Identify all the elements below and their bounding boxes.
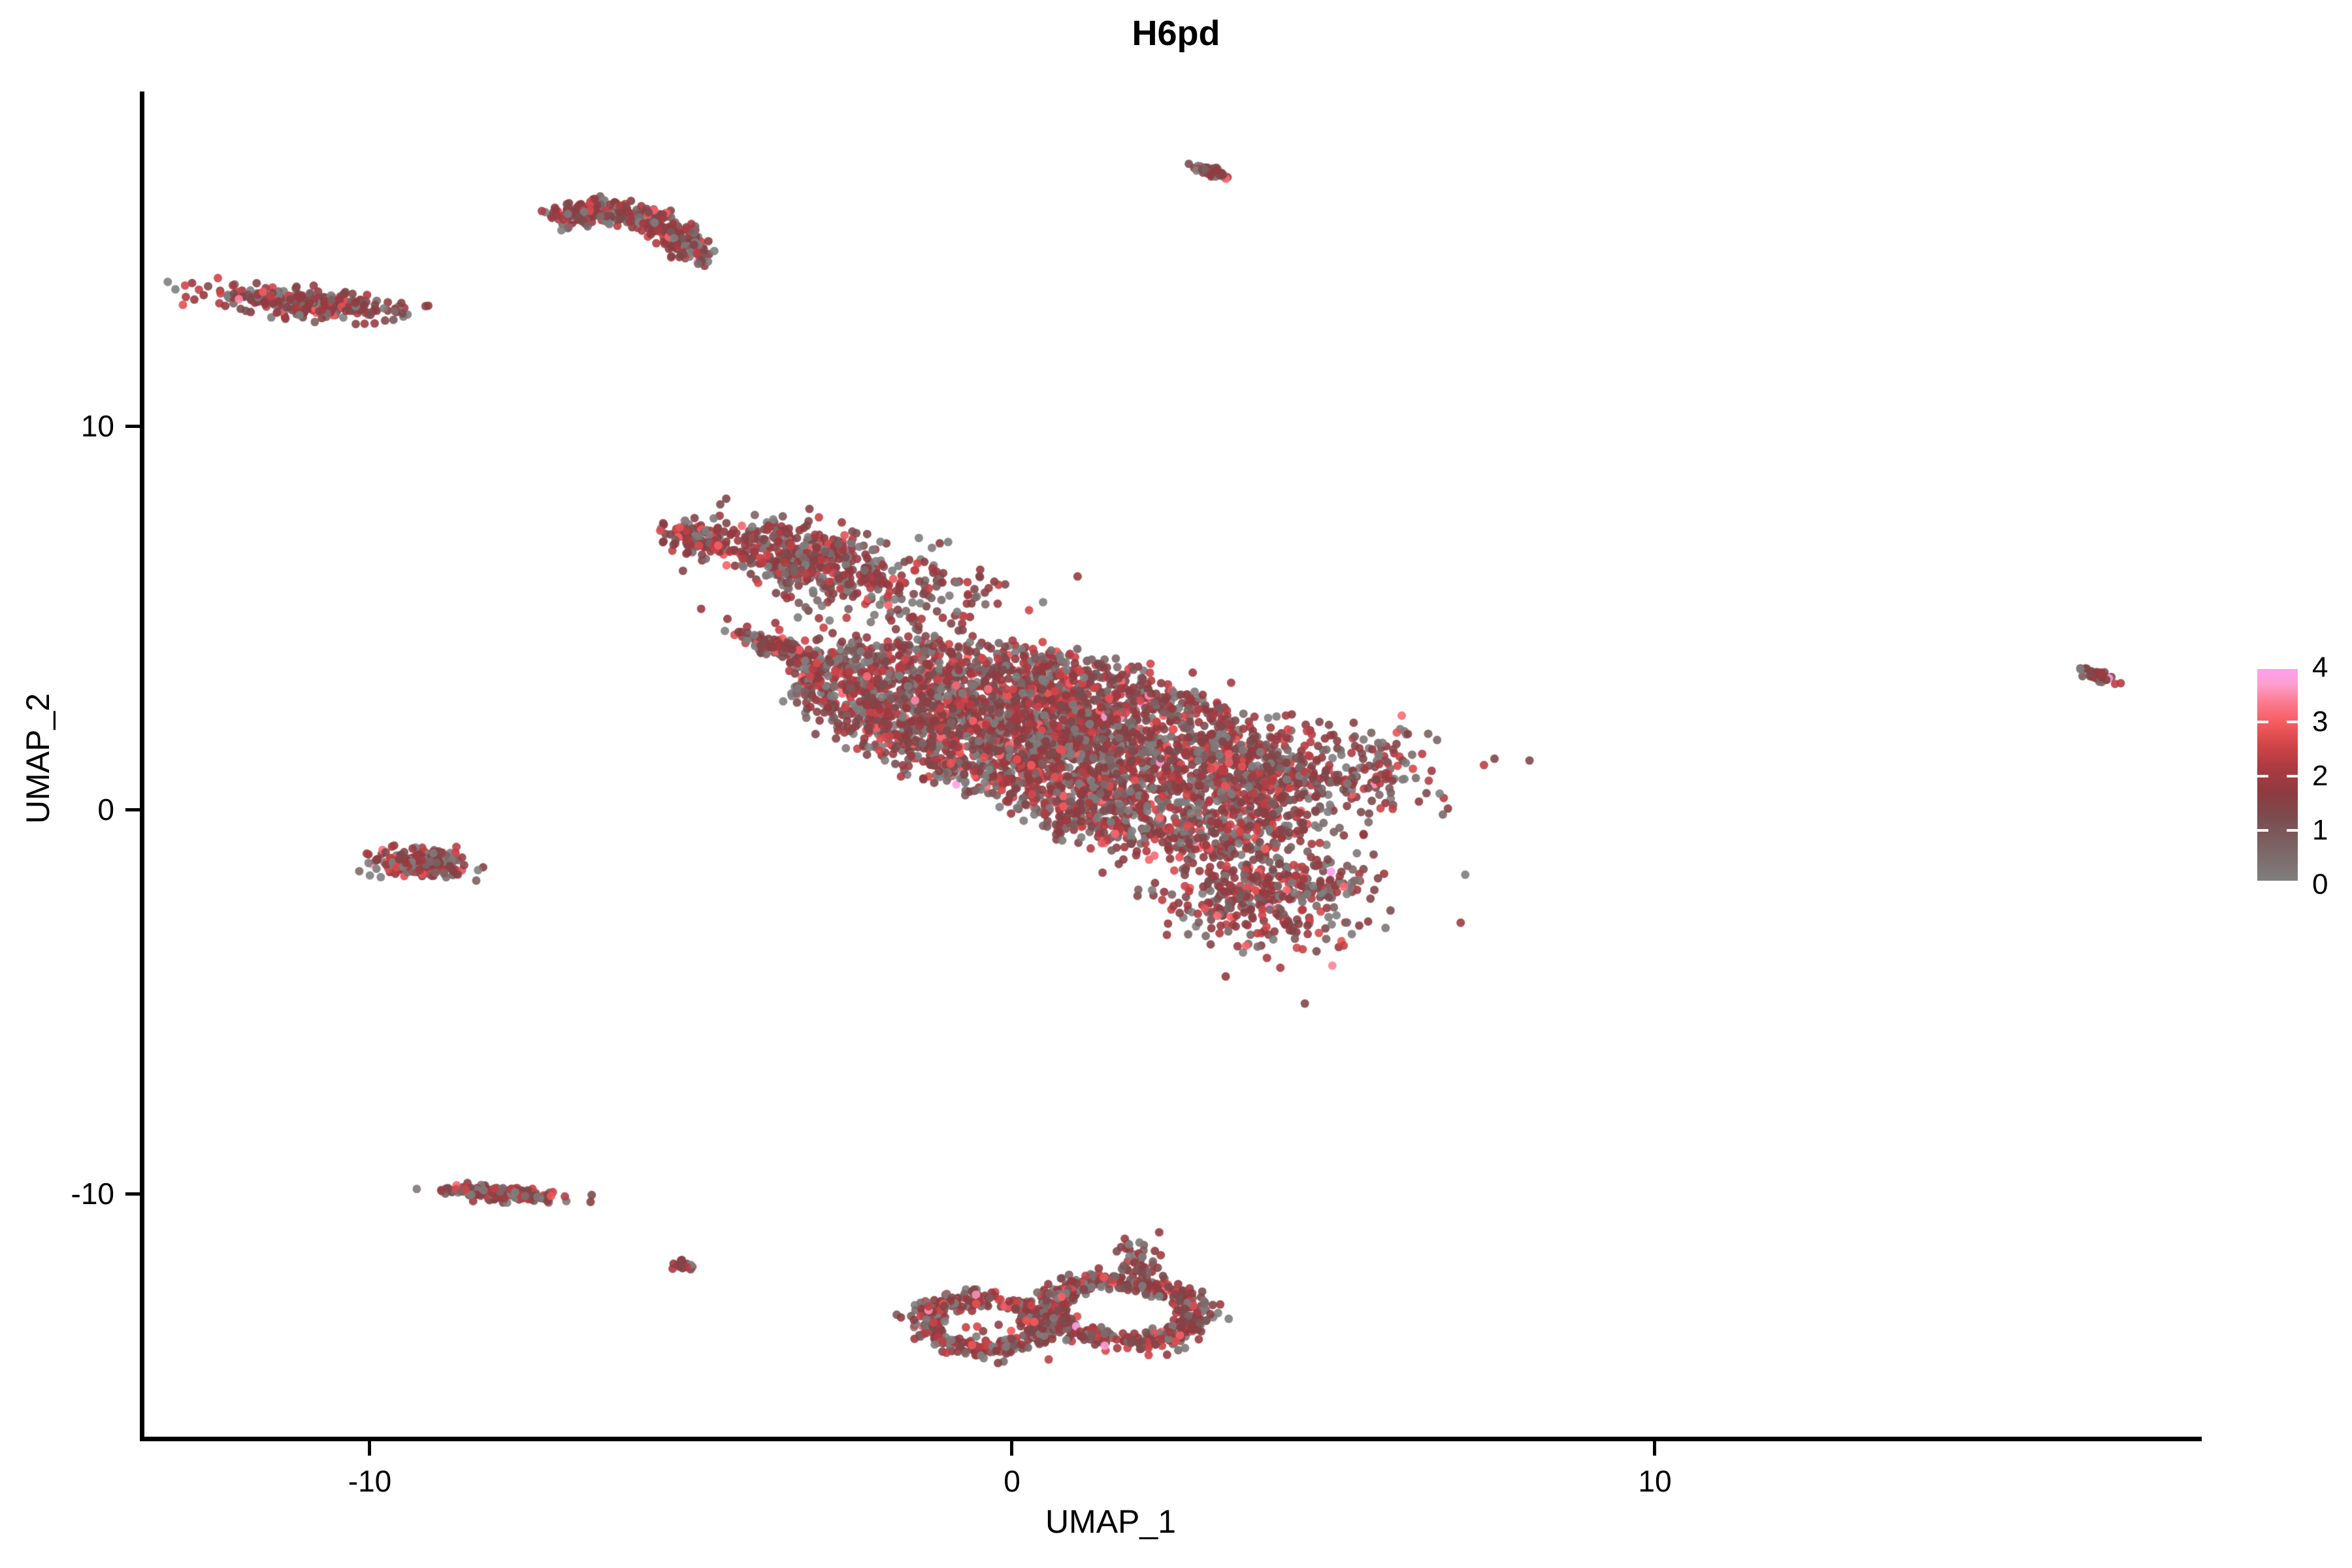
- colorbar-label-1: 1: [2312, 814, 2328, 847]
- colorbar-tick-1: [2257, 829, 2268, 832]
- x-tick-mark-neg10: [368, 1441, 371, 1456]
- colorbar-label-2: 2: [2312, 760, 2328, 792]
- x-axis-title: UMAP_1: [0, 1503, 2221, 1541]
- colorbar-label-3: 3: [2312, 706, 2328, 738]
- y-axis-line: [140, 91, 144, 1441]
- colorbar-legend: 4 3 2 1 0: [2257, 657, 2349, 892]
- y-axis-title: UMAP_2: [19, 563, 57, 955]
- y-tick-label-neg10: -10: [13, 1176, 114, 1211]
- y-tick-mark-0: [125, 808, 140, 811]
- page-title: H6pd: [0, 13, 2352, 54]
- colorbar-tick-2: [2257, 775, 2268, 777]
- colorbar-label-0: 0: [2312, 868, 2328, 901]
- x-axis-line: [140, 1437, 2202, 1441]
- colorbar-tick-0: [2257, 881, 2298, 883]
- colorbar-label-4: 4: [2312, 651, 2328, 684]
- y-tick-mark-10: [125, 425, 140, 428]
- colorbar-tick-3: [2257, 721, 2268, 723]
- colorbar-tick-3b: [2287, 721, 2298, 723]
- colorbar-tick-1b: [2287, 829, 2298, 832]
- umap-feature-plot: H6pd 10 0 -10 -10 0 10 UMAP_1 UMAP_2 4 3…: [0, 0, 2352, 1568]
- plot-panel: [144, 91, 2202, 1439]
- x-tick-mark-0: [1010, 1441, 1013, 1456]
- colorbar-tick-4: [2257, 666, 2298, 669]
- x-tick-label-0: 0: [1004, 1463, 1021, 1499]
- y-tick-mark-neg10: [125, 1192, 140, 1196]
- x-tick-mark-10: [1653, 1441, 1656, 1456]
- x-tick-label-10: 10: [1638, 1463, 1671, 1499]
- x-tick-label-neg10: -10: [348, 1463, 391, 1499]
- y-tick-label-10: 10: [13, 408, 114, 444]
- colorbar-tick-2b: [2287, 775, 2298, 777]
- scatter-points-canvas: [144, 91, 2202, 1439]
